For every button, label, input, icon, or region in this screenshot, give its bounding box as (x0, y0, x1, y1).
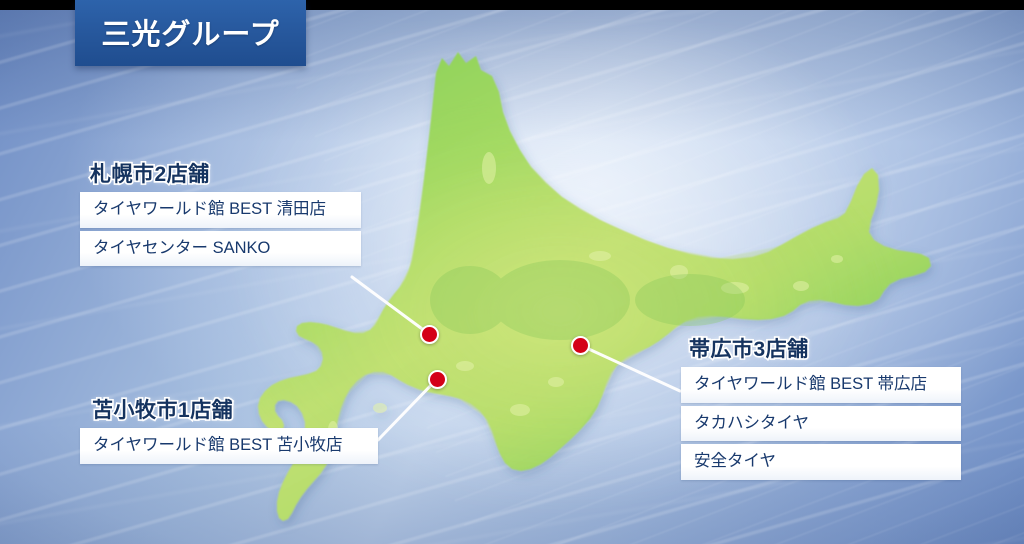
store-item[interactable]: タイヤワールド館 BEST 帯広店 (681, 367, 961, 403)
title-banner: 三光グループ (75, 0, 306, 66)
store-item[interactable]: タカハシタイヤ (681, 406, 961, 442)
callout-sapporo: 札幌市2店舗 タイヤワールド館 BEST 清田店 タイヤセンター SANKO (80, 164, 361, 269)
store-item[interactable]: タイヤワールド館 BEST 清田店 (80, 192, 361, 228)
page-title: 三光グループ (101, 17, 279, 50)
callout-heading-obihiro: 帯広市3店舗 (681, 339, 961, 361)
map-marker-obihiro[interactable] (571, 336, 590, 355)
slide-canvas: 三光グループ 札幌市2店舗 タイヤワールド館 BEST 清田店 タイヤセンター … (0, 0, 1024, 544)
callout-tomakomai: 苫小牧市1店舗 タイヤワールド館 BEST 苫小牧店 (80, 400, 378, 467)
store-item[interactable]: タイヤセンター SANKO (80, 231, 361, 267)
callout-heading-sapporo: 札幌市2店舗 (80, 164, 361, 186)
store-item[interactable]: 安全タイヤ (681, 444, 961, 480)
callout-heading-tomakomai: 苫小牧市1店舗 (80, 400, 378, 422)
map-marker-sapporo[interactable] (420, 325, 439, 344)
map-marker-tomakomai[interactable] (428, 370, 447, 389)
callout-obihiro: 帯広市3店舗 タイヤワールド館 BEST 帯広店 タカハシタイヤ 安全タイヤ (681, 339, 961, 483)
store-item[interactable]: タイヤワールド館 BEST 苫小牧店 (80, 428, 378, 464)
